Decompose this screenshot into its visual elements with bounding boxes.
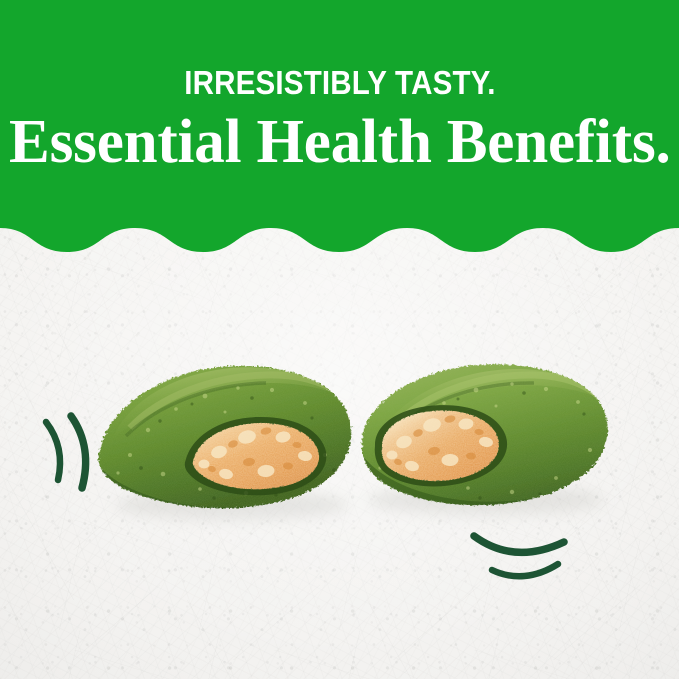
motion-line-left-1 bbox=[46, 422, 60, 480]
motion-lines-right bbox=[468, 522, 572, 584]
motion-line-right-2 bbox=[492, 564, 558, 576]
product-photo-group bbox=[0, 0, 679, 679]
motion-line-left-2 bbox=[71, 416, 86, 488]
motion-line-right-1 bbox=[474, 536, 564, 552]
motion-lines-left bbox=[38, 412, 102, 492]
product-banner-image: IRRESISTIBLY TASTY. Essential Health Ben… bbox=[0, 0, 679, 679]
left-treat-half bbox=[90, 355, 370, 520]
